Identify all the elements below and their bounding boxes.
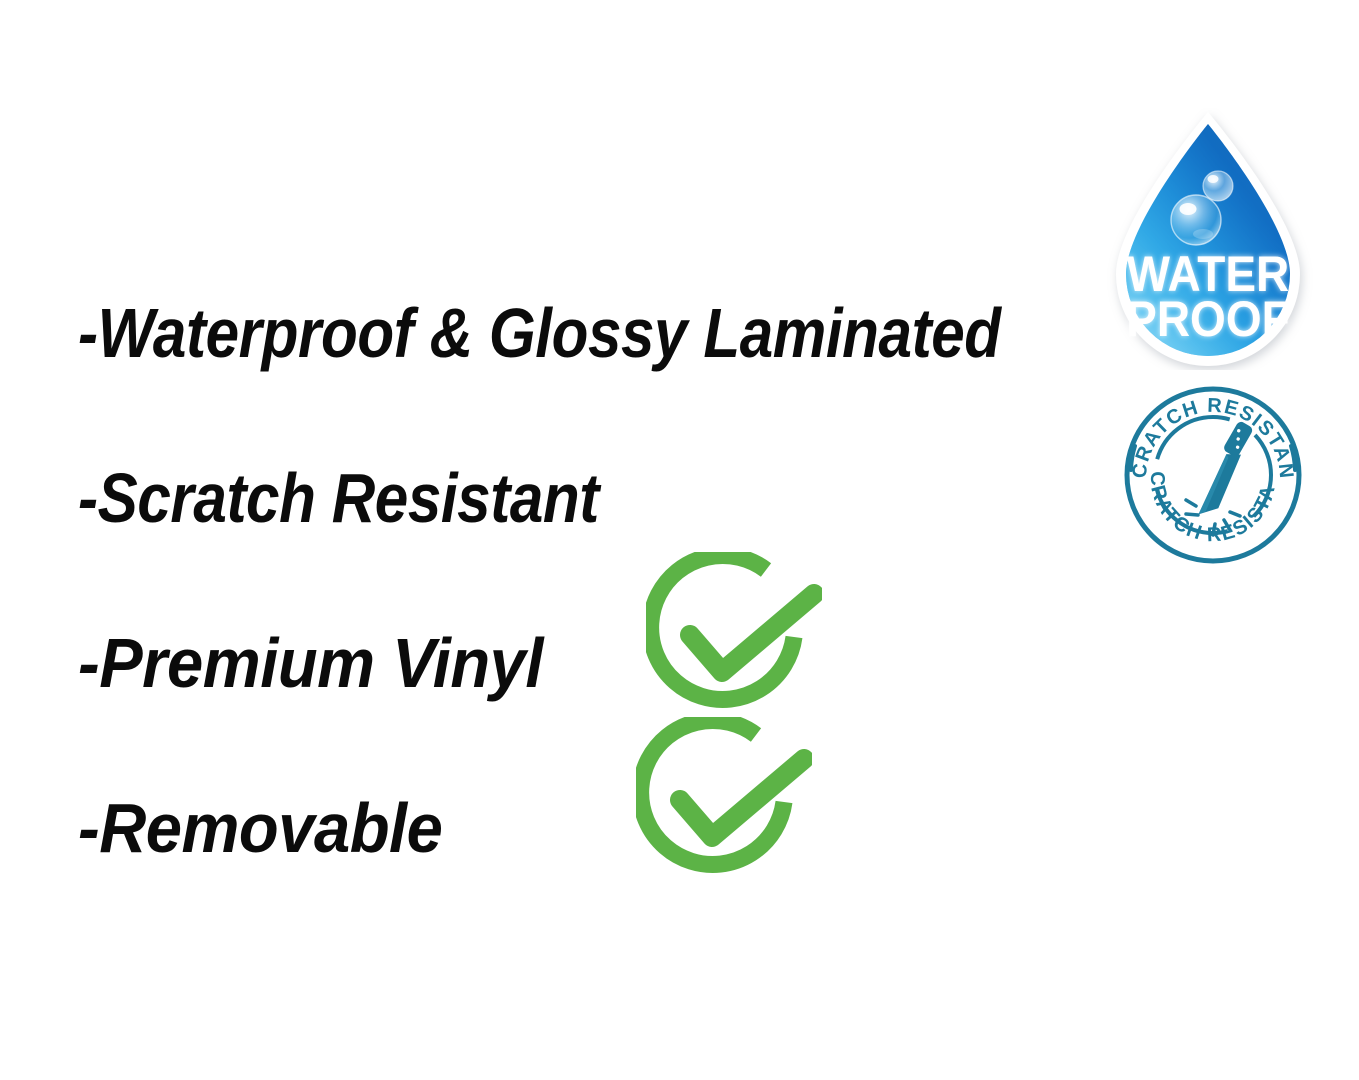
- feature-label-scratch-resistant: -Scratch Resistant: [78, 463, 599, 533]
- waterproof-droplet-badge: WATER PROOF: [1098, 108, 1318, 370]
- feature-item-scratch-resistant: -Scratch Resistant: [78, 415, 1098, 580]
- feature-label-removable: -Removable: [78, 793, 442, 863]
- green-check-circle-1: [646, 552, 822, 728]
- scratch-resistant-seal-badge: SCRATCH RESISTANT SCRATCH RESISTANT: [1118, 384, 1308, 566]
- feature-item-waterproof: -Waterproof & Glossy Laminated: [78, 250, 1098, 415]
- knife-icon: [1198, 417, 1255, 522]
- green-check-circle-2: [636, 717, 812, 893]
- feature-label-premium-vinyl: -Premium Vinyl: [78, 628, 543, 698]
- page-canvas: -Waterproof & Glossy Laminated -Scratch …: [0, 0, 1359, 1080]
- feature-item-premium-vinyl: -Premium Vinyl: [78, 580, 1098, 745]
- feature-label-waterproof: -Waterproof & Glossy Laminated: [78, 298, 1001, 368]
- feature-item-removable: -Removable: [78, 745, 1098, 910]
- feature-list: -Waterproof & Glossy Laminated -Scratch …: [78, 250, 1098, 910]
- waterproof-line2: PROOF: [1126, 292, 1290, 347]
